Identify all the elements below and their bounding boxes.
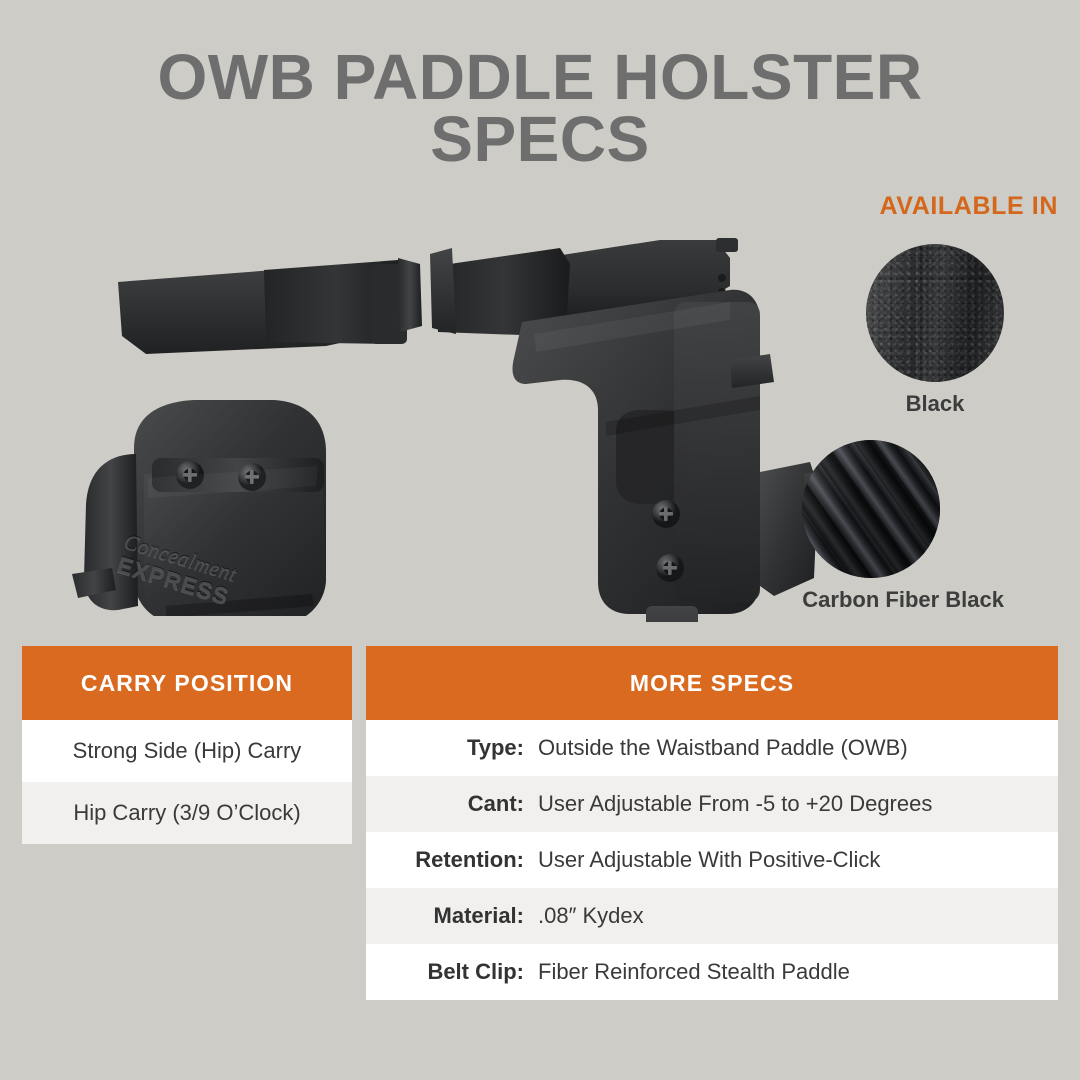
- black-kydex-swatch-icon: [866, 244, 1004, 382]
- available-in-label: AVAILABLE IN: [748, 192, 1058, 221]
- spec-row: Retention: User Adjustable With Positive…: [366, 832, 1058, 888]
- color-swatch-black-label: Black: [866, 391, 1004, 417]
- carry-position-header: CARRY POSITION: [22, 646, 352, 720]
- spec-row: Belt Clip: Fiber Reinforced Stealth Padd…: [366, 944, 1058, 1000]
- spec-label: Type:: [366, 735, 538, 761]
- spec-row: Material: .08″ Kydex: [366, 888, 1058, 944]
- page-title: OWB PADDLE HOLSTER SPECS: [0, 46, 1080, 170]
- holster-back-view: [430, 182, 850, 622]
- color-swatch-black[interactable]: Black: [866, 244, 1004, 417]
- carry-position-row: Strong Side (Hip) Carry: [22, 720, 352, 782]
- spec-label: Belt Clip:: [366, 959, 538, 985]
- color-swatch-carbon-fiber-label: Carbon Fiber Black: [802, 587, 1004, 613]
- color-swatch-carbon-fiber[interactable]: Carbon Fiber Black: [802, 440, 1004, 613]
- spec-value: Outside the Waistband Paddle (OWB): [538, 735, 908, 761]
- spec-value: User Adjustable From -5 to +20 Degrees: [538, 791, 932, 817]
- spec-value: Fiber Reinforced Stealth Paddle: [538, 959, 850, 985]
- spec-row: Type: Outside the Waistband Paddle (OWB): [366, 720, 1058, 776]
- spec-label: Retention:: [366, 847, 538, 873]
- carry-position-row: Hip Carry (3/9 O’Clock): [22, 782, 352, 844]
- spec-row: Cant: User Adjustable From -5 to +20 Deg…: [366, 776, 1058, 832]
- more-specs-header: MORE SPECS: [366, 646, 1058, 720]
- spec-value: .08″ Kydex: [538, 903, 644, 929]
- more-specs-table: MORE SPECS Type: Outside the Waistband P…: [366, 646, 1058, 1000]
- carry-position-table: CARRY POSITION Strong Side (Hip) Carry H…: [22, 646, 352, 844]
- holster-front-view: [26, 186, 426, 616]
- available-in-section: AVAILABLE IN: [748, 192, 1058, 221]
- page-title-line-2: SPECS: [0, 108, 1080, 170]
- carbon-fiber-swatch-icon: [802, 440, 940, 578]
- spec-label: Cant:: [366, 791, 538, 817]
- spec-label: Material:: [366, 903, 538, 929]
- spec-value: User Adjustable With Positive-Click: [538, 847, 880, 873]
